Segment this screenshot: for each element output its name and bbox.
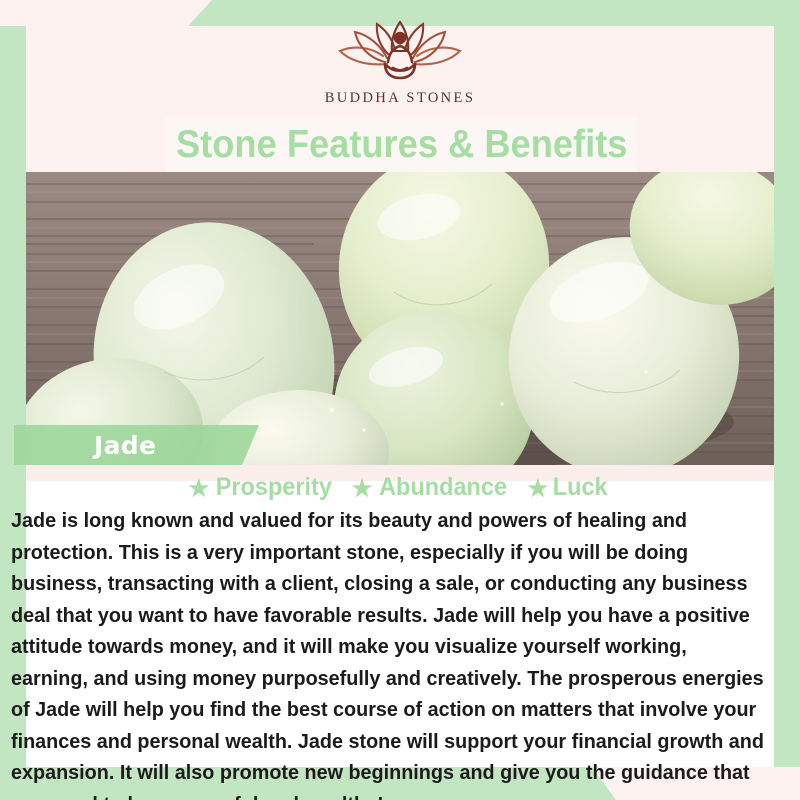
page-title: Stone Features & Benefits (176, 125, 627, 164)
stone-photo (14, 172, 786, 465)
stone-info-card: BUDDHA STONES Stone Features & Benefits (0, 0, 800, 800)
stone-name-badge: Jade (14, 425, 259, 465)
benefit-item-abundance: ★Abundance (345, 473, 521, 501)
description-panel: ★Prosperity★Abundance★Luck Jade is long … (26, 465, 774, 767)
benefit-label: Luck (553, 473, 608, 502)
description-paragraph: Jade is long known and valued for its be… (11, 505, 766, 800)
star-icon: ★ (352, 475, 373, 502)
brand-logo: BUDDHA STONES (0, 18, 800, 118)
lotus-meditation-icon (325, 18, 475, 88)
benefits-list: ★Prosperity★Abundance★Luck (26, 473, 774, 502)
stone-photo-illustration (14, 172, 786, 465)
stone-name-label: Jade (94, 431, 156, 460)
star-icon: ★ (528, 475, 549, 502)
decorative-strip-right (774, 26, 800, 767)
benefit-label: Prosperity (216, 473, 332, 502)
benefit-label: Abundance (379, 473, 507, 502)
title-banner: Stone Features & Benefits (165, 117, 638, 172)
star-icon: ★ (188, 475, 209, 502)
benefit-item-prosperity: ★Prosperity (181, 473, 344, 501)
benefit-item-luck: ★Luck (521, 473, 619, 501)
brand-name: BUDDHA STONES (325, 90, 476, 107)
